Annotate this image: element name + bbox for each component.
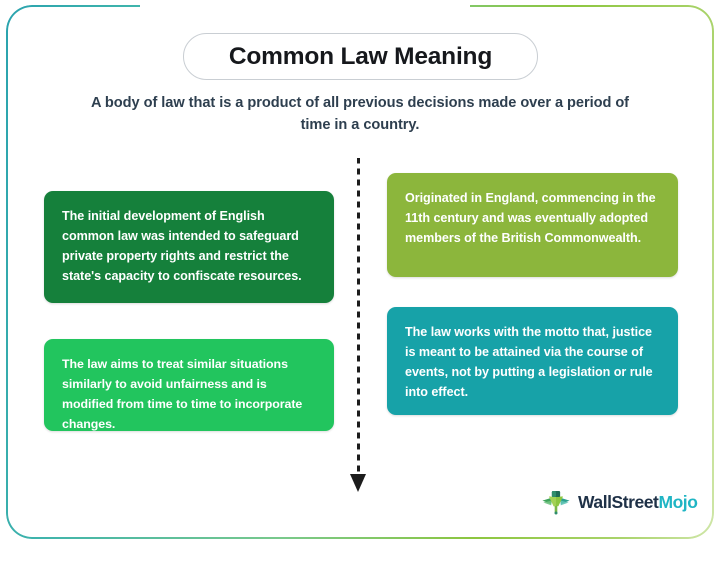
logo-text-wallstreet: WallStreet xyxy=(578,492,658,512)
card-text: The initial development of English commo… xyxy=(62,209,306,283)
card-treat-similar-situations: The law aims to treat similar situations… xyxy=(44,339,334,431)
logo-wordmark: WallStreetMojo xyxy=(578,494,697,512)
logo-text-mojo: Mojo xyxy=(658,492,697,512)
card-initial-development: The initial development of English commo… xyxy=(44,191,334,303)
card-text: Originated in England, commencing in the… xyxy=(405,191,656,245)
card-originated-in-england: Originated in England, commencing in the… xyxy=(387,173,678,277)
down-arrow-icon xyxy=(350,474,366,492)
dashed-divider-line xyxy=(357,158,360,476)
wallstreetmojo-funnel-icon xyxy=(541,488,571,518)
infographic-canvas: Common Law Meaning A body of law that is… xyxy=(0,0,720,571)
page-subtitle: A body of law that is a product of all p… xyxy=(76,93,644,137)
card-text: The law works with the motto that, justi… xyxy=(405,325,653,399)
card-law-motto: The law works with the motto that, justi… xyxy=(387,307,678,415)
wallstreetmojo-logo[interactable]: WallStreetMojo xyxy=(541,487,689,519)
page-title: Common Law Meaning xyxy=(229,43,492,71)
card-text: The law aims to treat similar situations… xyxy=(62,357,302,431)
frame-top-gap xyxy=(140,3,470,11)
title-pill: Common Law Meaning xyxy=(183,33,538,80)
